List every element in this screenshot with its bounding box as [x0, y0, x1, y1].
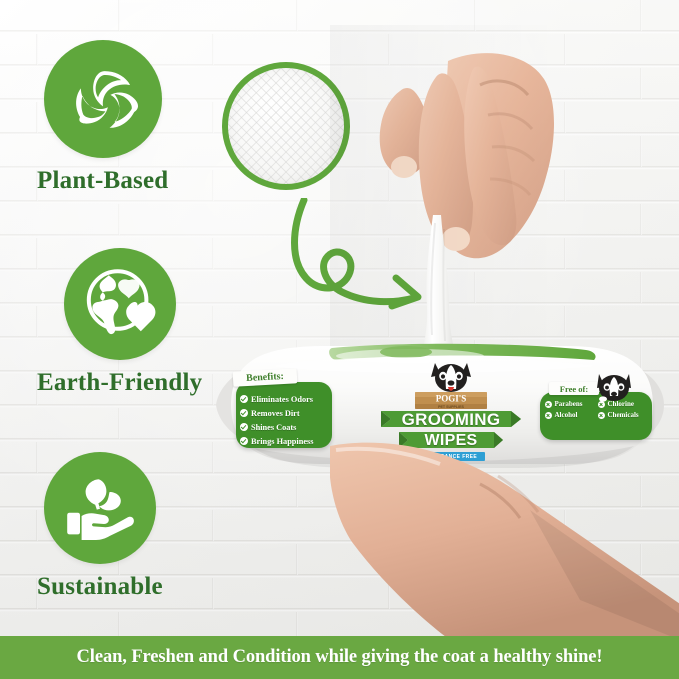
- sustainable-disc: [44, 452, 156, 564]
- earth-friendly-disc: [64, 248, 176, 360]
- check-icon: [240, 395, 248, 403]
- three-leaves-recycle-icon: [62, 58, 144, 140]
- benefit-item: Shines Coats: [240, 420, 332, 434]
- globe-heart-icon: [80, 264, 160, 344]
- x-mark-icon: [545, 401, 552, 408]
- benefit-item: Brings Happiness: [240, 434, 332, 448]
- benefit-label: Brings Happiness: [251, 437, 313, 446]
- footer-banner: Clean, Freshen and Condition while givin…: [0, 636, 679, 679]
- check-icon: [240, 437, 248, 445]
- benefits-list: Eliminates Odors Removes Dirt Shines Coa…: [240, 392, 332, 448]
- hand-supporting-package: [330, 440, 679, 640]
- check-icon: [240, 423, 248, 431]
- free-of-item: Parabens: [545, 400, 596, 408]
- check-icon: [240, 409, 248, 417]
- x-mark-icon: [545, 412, 552, 419]
- free-of-item: Chemicals: [598, 411, 649, 419]
- boston-terrier-peeking-icon: [594, 368, 634, 402]
- free-of-heading: Free of:: [549, 382, 599, 395]
- free-of-label: Parabens: [555, 400, 583, 408]
- footer-tagline: Clean, Freshen and Condition while givin…: [77, 647, 603, 668]
- free-of-list: Parabens Chlorine Alcohol Chemicals: [545, 400, 649, 419]
- free-of-label: Chemicals: [608, 411, 639, 419]
- feature-badge-sustainable: Sustainable: [37, 452, 163, 601]
- feature-badge-earth-friendly: Earth-Friendly: [37, 248, 202, 397]
- benefit-label: Eliminates Odors: [251, 395, 313, 404]
- free-of-item: Alcohol: [545, 411, 596, 419]
- feature-badge-plant-based: Plant-Based: [37, 40, 168, 195]
- brand-name: POGI'S: [436, 394, 467, 404]
- hand-holding-sprout-icon: [60, 468, 140, 548]
- benefit-item: Eliminates Odors: [240, 392, 332, 406]
- benefit-label: Shines Coats: [251, 423, 296, 432]
- plant-based-disc: [44, 40, 162, 158]
- free-of-label: Alcohol: [555, 411, 578, 419]
- benefit-item: Removes Dirt: [240, 406, 332, 420]
- benefit-label: Removes Dirt: [251, 409, 300, 418]
- feature-label-plant-based: Plant-Based: [37, 167, 168, 195]
- x-mark-icon: [598, 412, 605, 419]
- product-marketing-image: Plant-Based Earth-Friendly: [0, 0, 679, 679]
- product-title-line1: GROOMING: [381, 409, 521, 430]
- feature-label-earth-friendly: Earth-Friendly: [37, 369, 202, 397]
- feature-label-sustainable: Sustainable: [37, 573, 163, 601]
